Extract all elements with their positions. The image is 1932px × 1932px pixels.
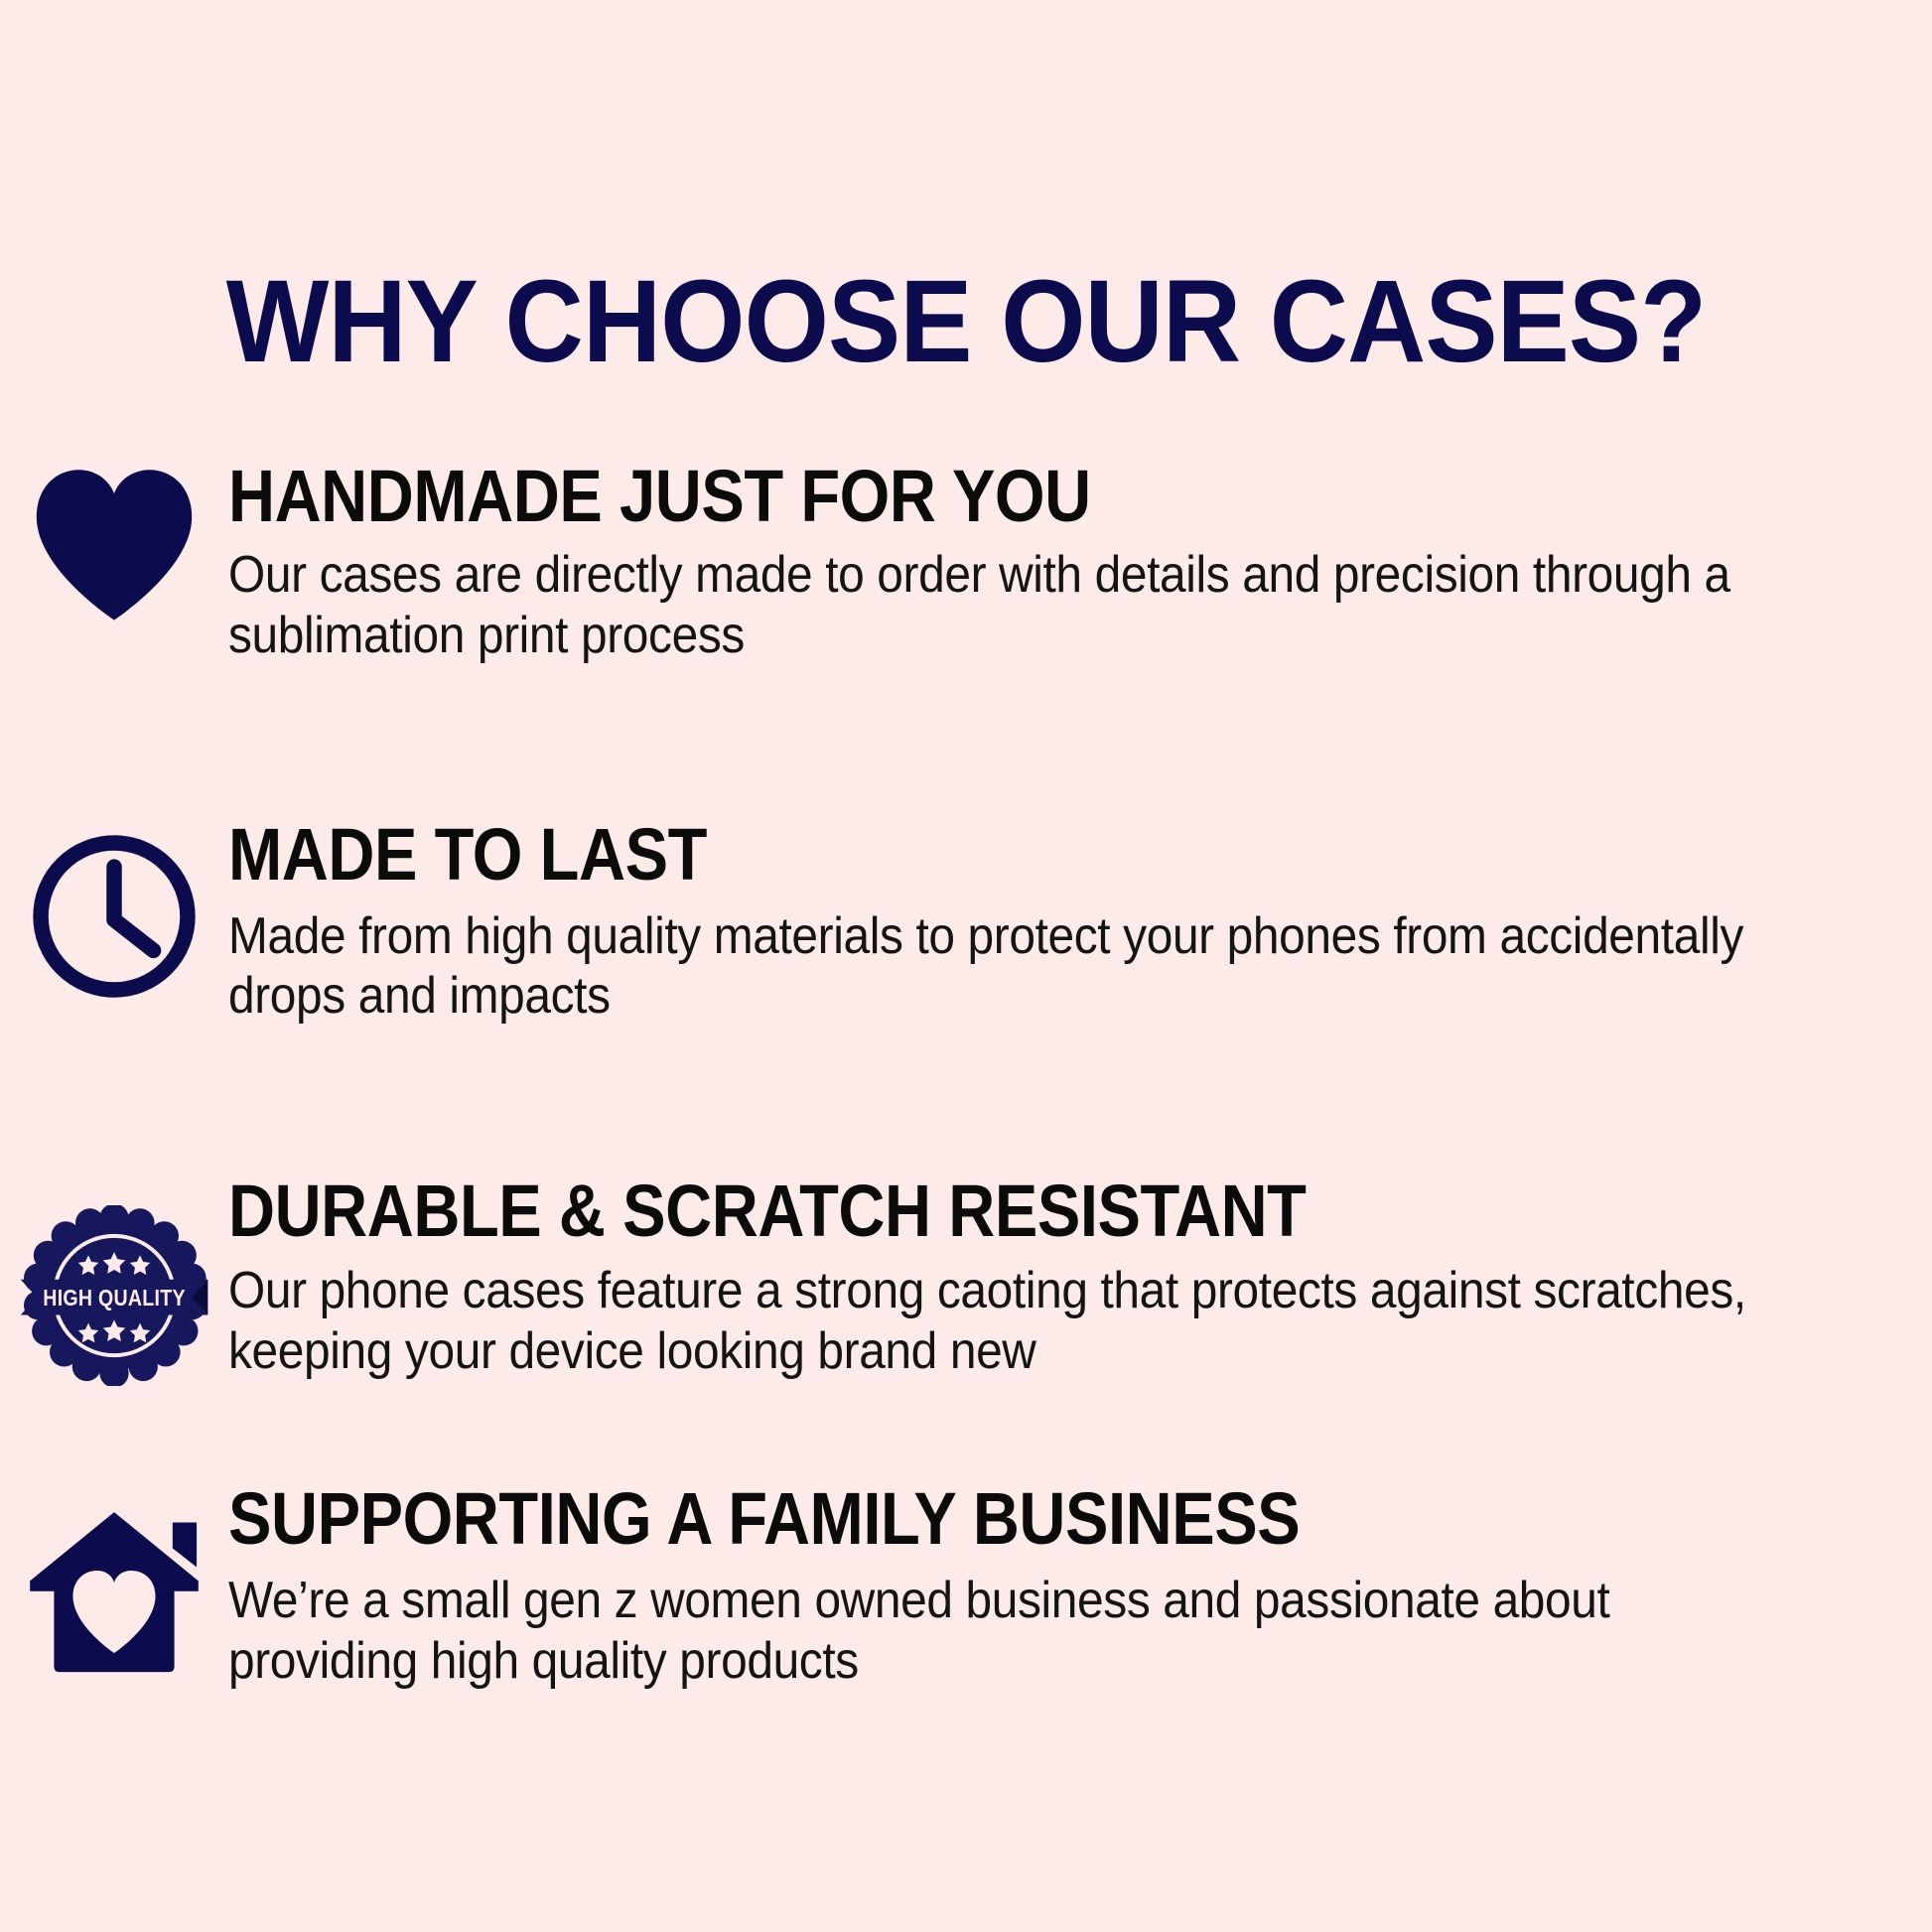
- feature-heading: MADE TO LAST: [228, 817, 1693, 892]
- feature-item: MADE TO LAST Made from high quality mate…: [0, 817, 1932, 1027]
- feature-heading: HANDMADE JUST FOR YOU: [228, 459, 1693, 533]
- feature-list: HANDMADE JUST FOR YOU Our cases are dire…: [0, 459, 1932, 1691]
- feature-item: SUPPORTING A FAMILY BUSINESS We’re a sma…: [0, 1481, 1932, 1691]
- feature-item: HANDMADE JUST FOR YOU Our cases are dire…: [0, 459, 1932, 666]
- feature-description: Made from high quality materials to prot…: [228, 906, 1759, 1028]
- feature-description: Our cases are directly made to order wit…: [228, 545, 1759, 666]
- feature-text-container: MADE TO LAST Made from high quality mate…: [228, 817, 1932, 1027]
- feature-icon-container: [0, 459, 228, 623]
- feature-description: Our phone cases feature a strong caoting…: [228, 1261, 1759, 1382]
- feature-heading: DURABLE & SCRATCH RESISTANT: [228, 1173, 1693, 1248]
- why-choose-our-cases-poster: WHY CHOOSE OUR CASES? HANDMADE JUST FOR …: [0, 0, 1932, 1932]
- feature-icon-container: HIGH QUALITY: [0, 1173, 228, 1386]
- high-quality-badge-icon: HIGH QUALITY: [17, 1205, 211, 1386]
- feature-item: HIGH QUALITY DURABLE & SCRATCH RESISTANT…: [0, 1173, 1932, 1386]
- feature-icon-container: [0, 1481, 228, 1674]
- badge-label: HIGH QUALITY: [43, 1287, 185, 1311]
- feature-description: We’re a small gen z women owned business…: [228, 1571, 1759, 1692]
- feature-text-container: HANDMADE JUST FOR YOU Our cases are dire…: [228, 459, 1932, 666]
- page-title: WHY CHOOSE OUR CASES?: [68, 263, 1864, 380]
- feature-icon-container: [0, 817, 228, 1002]
- feature-text-container: SUPPORTING A FAMILY BUSINESS We’re a sma…: [228, 1481, 1932, 1691]
- heart-icon: [30, 465, 199, 623]
- house-heart-icon: [25, 1505, 204, 1674]
- clock-icon: [29, 831, 200, 1002]
- feature-heading: SUPPORTING A FAMILY BUSINESS: [228, 1481, 1693, 1556]
- feature-text-container: DURABLE & SCRATCH RESISTANT Our phone ca…: [228, 1173, 1932, 1381]
